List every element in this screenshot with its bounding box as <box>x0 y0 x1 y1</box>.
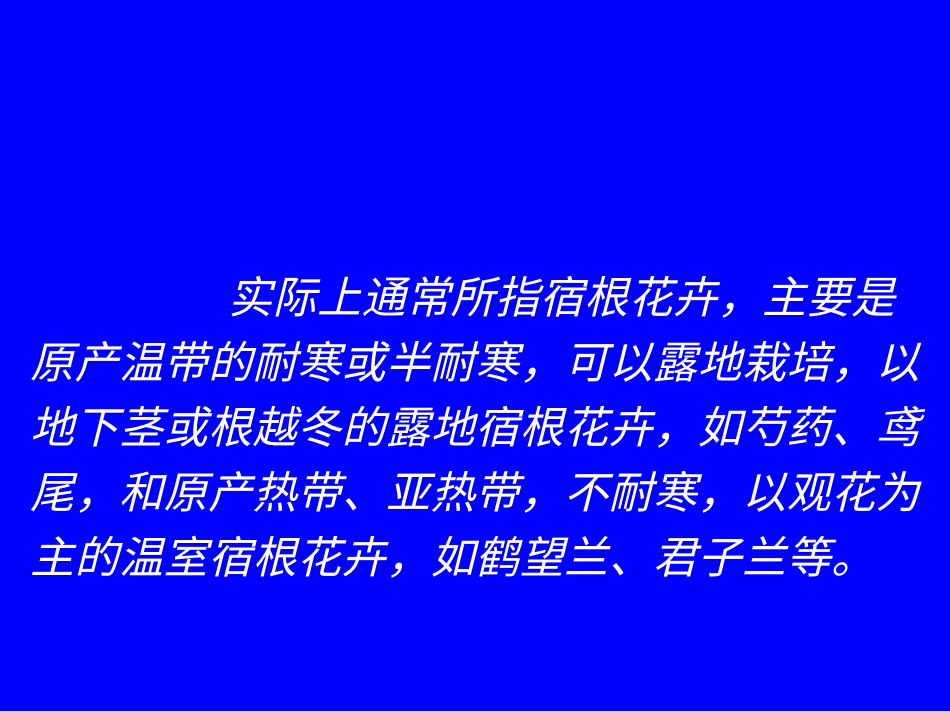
slide-body-text: 实际上通常所指宿根花卉，主要是原产温带的耐寒或半耐寒，可以露地栽培，以地下茎或根… <box>30 136 920 713</box>
body-paragraph: 实际上通常所指宿根花卉，主要是原产温带的耐寒或半耐寒，可以露地栽培，以地下茎或根… <box>30 266 920 591</box>
presentation-slide: 实际上通常所指宿根花卉，主要是原产温带的耐寒或半耐寒，可以露地栽培，以地下茎或根… <box>0 0 950 713</box>
